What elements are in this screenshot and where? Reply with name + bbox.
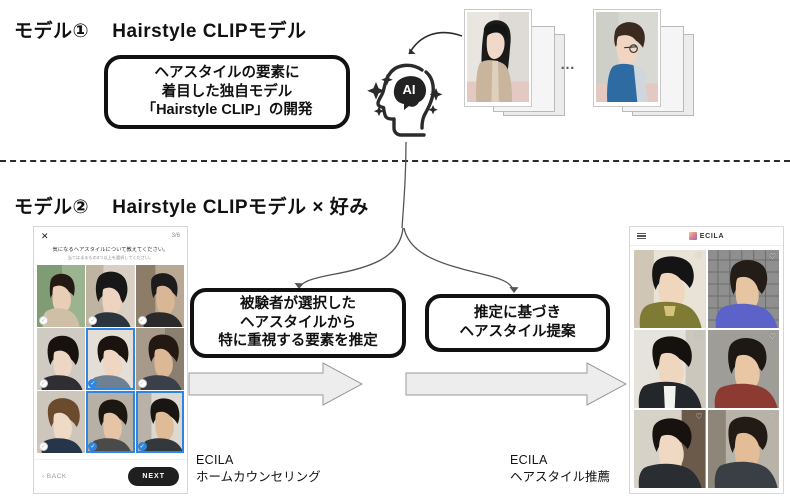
caption-left: ECILA ホームカウンセリング (196, 452, 321, 487)
back-button[interactable]: ‹ BACK (42, 473, 67, 480)
hairstyle-option[interactable]: ✓ (37, 391, 85, 453)
selection-check[interactable]: ✓ (138, 316, 147, 325)
callout-sug-line1: 推定に基づき (474, 304, 561, 323)
callout-est-line3: 特に重視する要素を推定 (218, 332, 378, 351)
caption-right-text: ヘアスタイル推薦 (510, 469, 610, 486)
selection-check[interactable]: ✓ (138, 442, 147, 451)
photo-stack-ellipsis: … (560, 56, 578, 73)
photo-stack-2 (586, 6, 696, 124)
ai-label: AI (403, 82, 416, 97)
callout-estimate-elements: 被験者が選択した ヘアスタイルから 特に重視する要素を推定 (190, 288, 406, 358)
heart-icon[interactable]: ♡ (695, 333, 702, 341)
photo-card-front (465, 10, 531, 106)
callout-sug-line2: ヘアスタイル提案 (460, 323, 576, 342)
heart-icon[interactable]: ♡ (769, 253, 776, 261)
diagram-canvas: モデル① Hairstyle CLIPモデル ヘアスタイルの要素に 着目した独自… (0, 0, 790, 502)
model1-title: Hairstyle CLIPモデル (112, 21, 306, 42)
section-title-model2: モデル② Hairstyle CLIPモデル × 好み (14, 192, 369, 219)
callout-main-line1: ヘアスタイルの要素に (155, 64, 300, 83)
phone-left-instructions: 気になるヘアスタイルについて教えてください。 当てはまるもの3つ以上を選択してく… (34, 245, 187, 262)
callout-est-line1: 被験者が選択した (240, 295, 356, 314)
phone-mockup-counseling: ✕ 3/6 気になるヘアスタイルについて教えてください。 当てはまるもの3つ以上… (33, 226, 188, 494)
hamburger-icon[interactable] (637, 233, 646, 240)
callout-est-line2: ヘアスタイルから (240, 314, 356, 333)
photo-stack-1 (457, 6, 567, 124)
recommended-item[interactable]: ♡ (708, 330, 780, 408)
model2-label: モデル② (14, 197, 89, 218)
model2-title: Hairstyle CLIPモデル × 好み (112, 197, 368, 218)
heart-icon[interactable]: ♡ (769, 333, 776, 341)
instruction-sub: 当てはまるもの3つ以上を選択してください。 (40, 255, 181, 261)
hairstyle-選択-grid: ✓ ✓ ✓ (34, 262, 187, 453)
recommended-item[interactable]: ♡ (634, 410, 706, 488)
recommended-item[interactable]: ♡ (634, 250, 706, 328)
phone-left-topbar: ✕ 3/6 (34, 227, 187, 245)
callout-main-line3: 「Hairstyle CLIP」の開発 (142, 101, 313, 120)
selection-check[interactable]: ✓ (138, 379, 147, 388)
hairstyle-option-selected[interactable]: ✓ (86, 328, 134, 390)
instruction-main: 気になるヘアスタイルについて教えてください。 (40, 247, 181, 255)
phone-right-topbar: ECILA (630, 227, 783, 246)
close-icon[interactable]: ✕ (41, 231, 49, 242)
hairstyle-option[interactable]: ✓ (136, 328, 184, 390)
callout-main-line2: 着目した独自モデル (162, 83, 293, 102)
hairstyle-option-selected[interactable]: ✓ (86, 391, 134, 453)
next-button[interactable]: NEXT (128, 467, 179, 486)
hairstyle-option[interactable]: ✓ (86, 265, 134, 327)
step-counter: 3/6 (172, 233, 180, 239)
chevron-left-icon: ‹ (42, 473, 45, 480)
ai-brain-icon: AI (366, 58, 444, 142)
heart-icon[interactable]: ♡ (695, 413, 702, 421)
phone-left-bottombar: ‹ BACK NEXT (34, 459, 187, 493)
phone-mockup-recommendation: ECILA ♡ (629, 226, 784, 494)
caption-left-text: ホームカウンセリング (196, 469, 321, 486)
recommended-hairstyle-grid: ♡ ♡ (630, 246, 783, 492)
caption-right: ECILA ヘアスタイル推薦 (510, 452, 610, 487)
section-divider (0, 160, 790, 162)
recommended-item[interactable]: ♡ (708, 250, 780, 328)
section-title-model1: モデル① Hairstyle CLIPモデル (14, 16, 307, 43)
caption-left-brand: ECILA (196, 452, 321, 469)
ecila-brand-name: ECILA (700, 233, 725, 240)
hairstyle-option[interactable]: ✓ (136, 265, 184, 327)
flow-arrow-2 (405, 362, 627, 406)
callout-suggest-hairstyle: 推定に基づき ヘアスタイル提案 (425, 294, 610, 352)
flow-arrow-1 (188, 362, 363, 406)
model1-label: モデル① (14, 21, 89, 42)
hairstyle-option[interactable]: ✓ (37, 265, 85, 327)
caption-right-brand: ECILA (510, 452, 610, 469)
heart-icon[interactable]: ♡ (769, 413, 776, 421)
back-label: BACK (47, 473, 67, 480)
ecila-mark-icon (689, 232, 697, 240)
hairstyle-option-selected[interactable]: ✓ (136, 391, 184, 453)
recommended-item[interactable]: ♡ (708, 410, 780, 488)
recommended-item[interactable]: ♡ (634, 330, 706, 408)
photo-card-front (594, 10, 660, 106)
callout-hairstyle-clip: ヘアスタイルの要素に 着目した独自モデル 「Hairstyle CLIP」の開発 (104, 55, 350, 129)
heart-icon[interactable]: ♡ (695, 253, 702, 261)
hairstyle-option[interactable]: ✓ (37, 328, 85, 390)
ecila-logo: ECILA (689, 232, 725, 240)
